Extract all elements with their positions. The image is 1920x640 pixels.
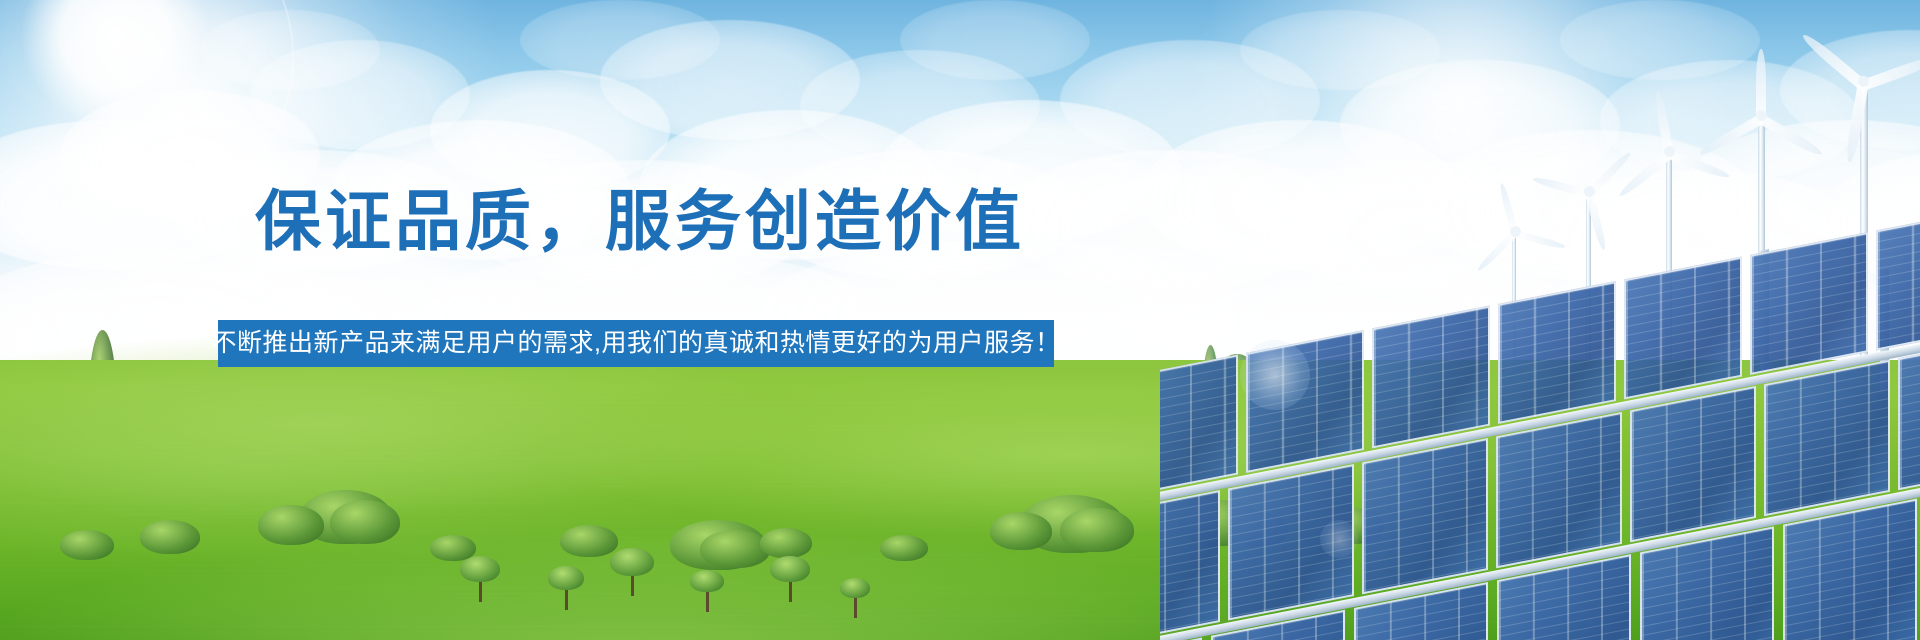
turbine-blade	[1861, 54, 1920, 91]
lawn-bush	[760, 528, 812, 558]
turbine-blade	[1698, 115, 1764, 159]
grass-streak	[584, 425, 1080, 426]
grass-streak	[514, 481, 860, 482]
lawn-bush	[700, 530, 770, 568]
sapling-crown	[460, 556, 500, 582]
grass-streak	[418, 414, 640, 415]
lens-flare-icon-small	[1320, 520, 1358, 558]
grass-streak	[457, 598, 640, 599]
turbine-blade	[1759, 115, 1825, 159]
lens-flare-icon	[1240, 340, 1310, 410]
turbine-hub	[1858, 76, 1869, 87]
grass-streak	[431, 475, 640, 476]
turbine-hub	[1664, 146, 1675, 157]
turbine-hub	[1584, 186, 1595, 197]
cloud	[520, 0, 720, 80]
solar-panel	[1876, 220, 1920, 351]
cloud	[1240, 10, 1440, 90]
grass-streak	[55, 632, 300, 633]
grass-streak	[348, 470, 1180, 471]
solar-panel	[1372, 306, 1490, 449]
grass-streak	[374, 593, 1180, 594]
grass-streak	[252, 402, 960, 403]
solar-panel	[1362, 438, 1488, 594]
lawn-bush	[330, 500, 400, 544]
page-title: 保证品质，服务创造价值	[0, 168, 1280, 264]
grass-streak	[0, 626, 840, 627]
sapling-crown	[610, 548, 654, 576]
solar-panel	[1496, 412, 1622, 568]
cloud	[200, 10, 380, 90]
cloud	[900, 0, 1090, 80]
solar-panel	[1498, 281, 1616, 424]
grass-streak	[501, 419, 860, 420]
grass-streak	[99, 453, 520, 454]
subtitle-banner-bar: 不断推出新产品来满足用户的需求,用我们的真诚和热情更好的为用户服务！	[218, 320, 1054, 367]
grass-streak	[0, 503, 840, 504]
grass-streak	[169, 397, 740, 398]
grass-streak	[42, 570, 300, 571]
solar-panel-plane	[1160, 220, 1920, 640]
grass-streak	[265, 464, 960, 465]
lawn-bush	[880, 535, 928, 561]
grass-streak	[335, 408, 1180, 409]
solar-panel	[1898, 334, 1920, 490]
sapling-crown	[690, 570, 724, 592]
turbine-blade	[1756, 49, 1766, 119]
grass-streak	[16, 447, 300, 448]
grass-streak	[540, 604, 860, 605]
solar-panel	[1624, 257, 1742, 400]
sapling-crown	[770, 556, 810, 582]
solar-panel	[1160, 490, 1220, 640]
lawn-bush	[1060, 508, 1134, 552]
grass-streak	[623, 610, 1080, 611]
lawn-bush	[990, 512, 1052, 550]
grass-streak	[125, 576, 520, 577]
sapling-crown	[548, 566, 584, 590]
solar-panel	[1764, 360, 1890, 516]
lawn-bush	[60, 530, 114, 560]
solar-panel	[1630, 386, 1756, 542]
lawn-bush	[140, 520, 200, 554]
turbine-blade	[1532, 175, 1590, 198]
sapling-crown	[840, 578, 870, 598]
solar-panel	[1783, 499, 1917, 640]
grass-streak	[597, 486, 1080, 487]
grass-streak	[3, 386, 300, 387]
grass-streak	[0, 442, 840, 443]
solar-panel	[1750, 232, 1868, 375]
lawn-bush	[258, 505, 324, 545]
lawn-bush	[560, 525, 618, 557]
hero-banner: 保证品质，服务创造价值 不断推出新产品来满足用户的需求,用我们的真诚和热情更好的…	[0, 0, 1920, 640]
solar-panel	[1160, 355, 1238, 498]
grass-streak	[182, 458, 740, 459]
grass-streak	[86, 391, 520, 392]
grass-streak	[29, 509, 300, 510]
turbine-hub	[1756, 110, 1767, 121]
turbine-blade	[1667, 150, 1730, 180]
turbine-blade	[1800, 31, 1867, 90]
grass-streak	[0, 380, 80, 381]
solar-panel-array	[1160, 220, 1920, 640]
subtitle-text: 不断推出新产品来满足用户的需求,用我们的真诚和热情更好的为用户服务！	[212, 331, 1061, 356]
